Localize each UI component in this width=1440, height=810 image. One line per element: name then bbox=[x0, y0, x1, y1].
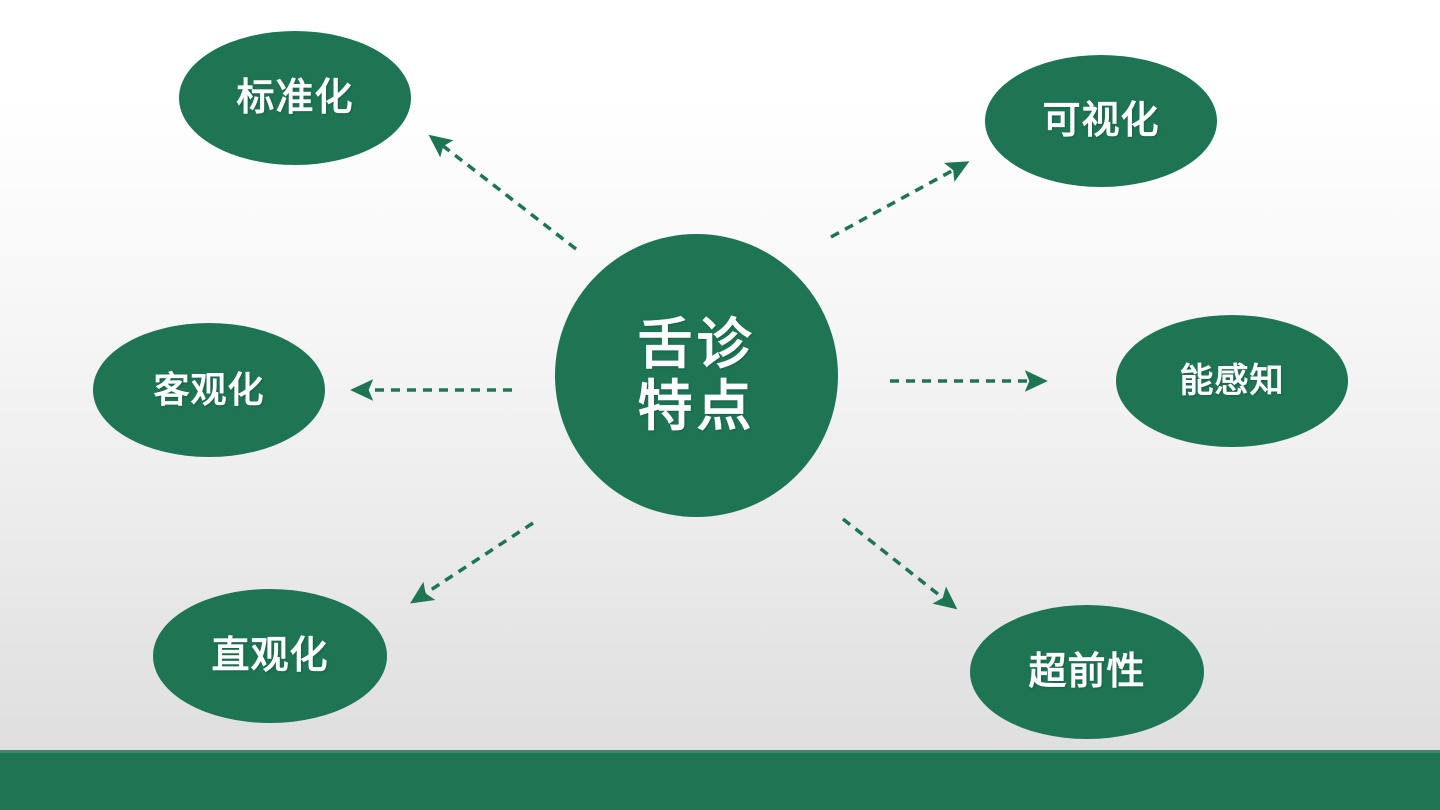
connector-center-to-intuitive bbox=[420, 523, 533, 597]
node-intuitive-label: 直观化 bbox=[211, 635, 328, 678]
node-standardization-label: 标准化 bbox=[236, 77, 353, 120]
center-node[interactable]: 舌诊 特点 bbox=[555, 234, 838, 517]
footer-bar bbox=[0, 753, 1440, 810]
node-intuitive[interactable]: 直观化 bbox=[153, 589, 387, 723]
node-perceivable-label: 能感知 bbox=[1180, 362, 1285, 400]
connector-center-to-visualization bbox=[831, 167, 959, 237]
center-node-label-line2: 特点 bbox=[637, 376, 755, 438]
node-objectification[interactable]: 客观化 bbox=[93, 323, 325, 457]
slide-canvas: 舌诊 特点 标准化 可视化 客观化 能感知 直观化 超前性 bbox=[0, 0, 1440, 810]
connector-center-to-foresight bbox=[843, 519, 948, 602]
node-perceivable[interactable]: 能感知 bbox=[1116, 315, 1348, 447]
node-foresight[interactable]: 超前性 bbox=[970, 605, 1204, 739]
node-visualization[interactable]: 可视化 bbox=[985, 55, 1217, 187]
node-visualization-label: 可视化 bbox=[1042, 100, 1159, 143]
center-node-label-line1: 舌诊 bbox=[637, 314, 755, 376]
node-objectification-label: 客观化 bbox=[153, 370, 264, 410]
connector-center-to-standardization bbox=[438, 142, 576, 249]
node-foresight-label: 超前性 bbox=[1028, 651, 1145, 694]
node-standardization[interactable]: 标准化 bbox=[179, 31, 411, 165]
